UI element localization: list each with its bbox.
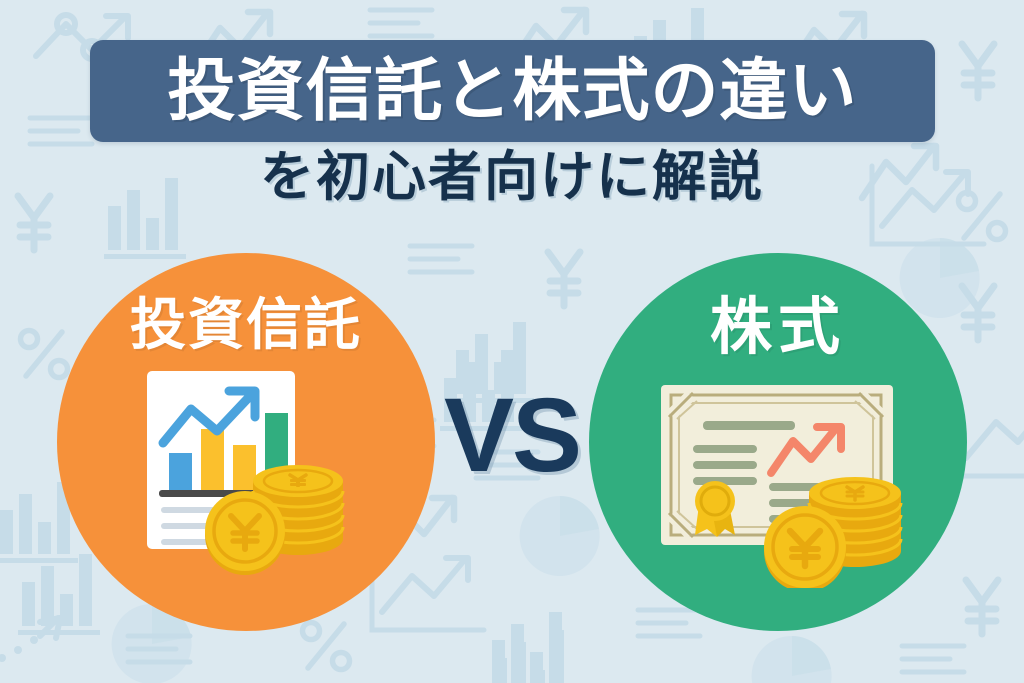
- comparison-label-left: 投資信託: [57, 297, 435, 353]
- poster-canvas: 投資信託と株式の違い を初心者向けに解説 投資信託: [0, 0, 1024, 683]
- comparison-label-right: 株式: [589, 297, 967, 359]
- versus-label: VS: [0, 383, 1024, 488]
- page-subtitle: を初心者向けに解説: [0, 150, 1024, 204]
- title-banner: 投資信託と株式の違い: [90, 40, 935, 142]
- page-title: 投資信託と株式の違い: [90, 40, 935, 142]
